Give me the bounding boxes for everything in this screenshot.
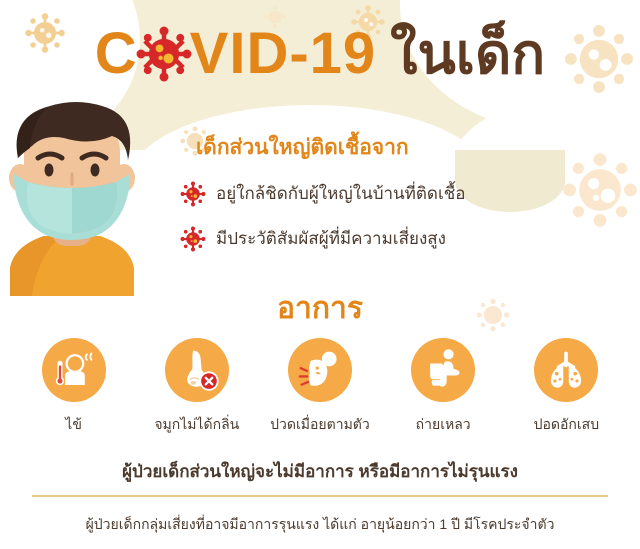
title-thai-suffix: ในเด็ก — [390, 26, 545, 82]
symptom-label: จมูกไม่ได้กลิ่น — [154, 414, 239, 436]
title-covid-prefix: C — [95, 25, 138, 83]
list-item: มีประวัติสัมผัสผู้ที่มีความเสี่ยงสูง — [180, 225, 610, 252]
list-item-label: อยู่ใกล้ชิดกับผู้ใหญ่ในบ้านที่ติดเชื้อ — [216, 180, 466, 207]
boy-wearing-mask-illustration — [0, 96, 152, 296]
title-covid-suffix: VID-19 — [190, 25, 377, 83]
symptom-item-diarrhea: ถ่ายเหลว — [385, 338, 501, 436]
virus-bullet-icon — [180, 226, 206, 252]
list-item: อยู่ใกล้ชิดกับผู้ใหญ่ในบ้านที่ติดเชื้อ — [180, 180, 610, 207]
infographic-canvas: C VI — [0, 0, 640, 549]
lungs-icon — [534, 338, 598, 402]
infection-heading: เด็กส่วนใหญ่ติดเชื้อจาก — [196, 131, 409, 164]
symptoms-heading: อาการ — [0, 285, 640, 332]
virus-icon — [136, 26, 192, 82]
body-ache-icon — [288, 338, 352, 402]
symptom-label: ไข้ — [65, 414, 82, 436]
symptom-item-fever: ไข้ — [16, 338, 132, 436]
footer-main-note: ผู้ป่วยเด็กส่วนใหญ่จะไม่มีอาการ หรือมีอา… — [0, 458, 640, 485]
symptoms-icon-row: ไข้ จมูกไม่ได้กลิ่น — [0, 338, 640, 436]
symptom-label: ปอดอักเสบ — [534, 414, 600, 436]
symptom-label: ถ่ายเหลว — [416, 414, 471, 436]
virus-bullet-icon — [180, 181, 206, 207]
diarrhea-icon — [411, 338, 475, 402]
symptom-item-pneumonia: ปอดอักเสบ — [508, 338, 624, 436]
list-item-label: มีประวัติสัมผัสผู้ที่มีความเสี่ยงสูง — [216, 225, 446, 252]
fever-icon — [42, 338, 106, 402]
infection-bullet-list: อยู่ใกล้ชิดกับผู้ใหญ่ในบ้านที่ติดเชื้อ — [180, 180, 610, 270]
symptom-label: ปวดเมื่อยตามตัว — [270, 414, 370, 436]
symptom-item-body-ache: ปวดเมื่อยตามตัว — [262, 338, 378, 436]
footer-sub-note: ผู้ป่วยเด็กกลุ่มเสี่ยงที่อาจมีอาการรุนแร… — [0, 514, 640, 536]
no-smell-icon — [165, 338, 229, 402]
footer-divider — [32, 495, 608, 497]
symptom-item-no-smell: จมูกไม่ได้กลิ่น — [139, 338, 255, 436]
page-title: C VI — [0, 16, 640, 92]
